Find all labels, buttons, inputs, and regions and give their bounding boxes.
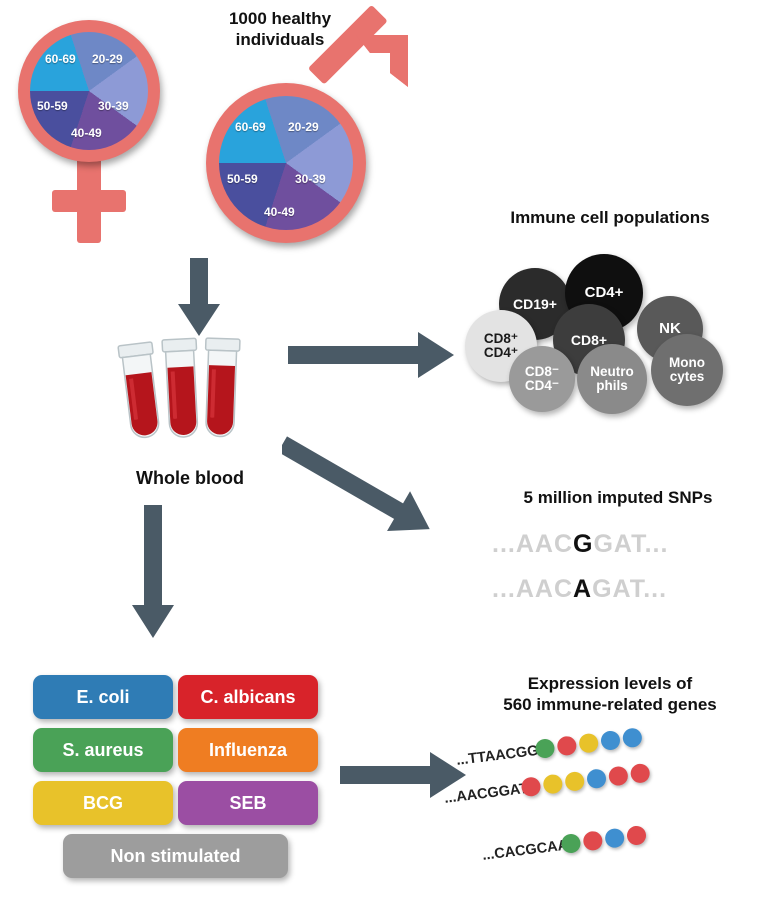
female-slice-label-20-29: 20-29 — [92, 52, 123, 66]
dna-strand-1-bead-2 — [556, 735, 577, 756]
expression-heading-line2: 560 immune-related genes — [455, 694, 765, 715]
dna-strand-2-bead-3 — [564, 771, 585, 792]
arrow-blood-to-stimuli — [130, 505, 176, 640]
female-slice-label-40-49: 40-49 — [71, 126, 102, 140]
stimulus-e-coli-label: E. coli — [76, 687, 129, 708]
male-slice-label-20-29: 20-29 — [288, 120, 319, 134]
dna-strand-3-sequence: ...CACGCAA — [481, 837, 569, 863]
female-gender-symbol: 20-29 30-39 40-49 50-59 60-69 — [8, 8, 193, 248]
immune-cell-neutrophils-label: Neutro phils — [590, 365, 634, 393]
snp-row-2-prefix: ...AAC — [492, 575, 573, 603]
male-slice-label-60-69: 60-69 — [235, 120, 266, 134]
immune-cell-cd8pos-cd4pos-label: CD8⁺ CD4⁺ — [484, 332, 518, 360]
stimulus-influenza-label: Influenza — [209, 740, 287, 761]
immune-cell-neutrophils: Neutro phils — [577, 344, 647, 414]
dna-strand-1-bead-4 — [600, 730, 621, 751]
dna-strand-3-bead-2 — [582, 830, 603, 851]
male-symbol-arrowhead — [338, 33, 410, 105]
immune-heading: Immune cell populations — [455, 207, 765, 228]
male-slice-label-30-39: 30-39 — [295, 172, 326, 186]
stimulus-seb-label: SEB — [229, 793, 266, 814]
blood-tubes — [110, 330, 270, 460]
stimulus-non-stimulated-label: Non stimulated — [110, 846, 240, 867]
snp-row-1: ...AACGGAT... — [492, 530, 668, 559]
stimulus-bcg: BCG — [33, 781, 173, 825]
whole-blood-label: Whole blood — [95, 467, 285, 490]
expression-heading: Expression levels of 560 immune-related … — [455, 673, 765, 716]
immune-cell-cd4-label: CD4+ — [585, 285, 624, 301]
snp-row-1-prefix: ...AAC — [492, 530, 573, 558]
stimulus-e-coli: E. coli — [33, 675, 173, 719]
male-gender-symbol: 20-29 30-39 40-49 50-59 60-69 — [196, 35, 411, 255]
snp-row-2: ...AACAGAT... — [492, 575, 667, 604]
female-symbol-crossbar — [52, 190, 126, 212]
immune-cell-monocytes-label: Mono cytes — [669, 356, 705, 384]
immune-cell-cd8neg-cd4neg-label: CD8⁻ CD4⁻ — [525, 365, 559, 393]
snp-row-2-suffix: GAT... — [592, 575, 667, 603]
snps-heading: 5 million imputed SNPs — [468, 487, 768, 508]
immune-cell-monocytes: Mono cytes — [651, 334, 723, 406]
dna-strand-3-bead-4 — [626, 825, 647, 846]
dna-strand-3-bead-3 — [604, 828, 625, 849]
dna-strand-2-bead-5 — [608, 765, 629, 786]
immune-cell-cd8neg-cd4neg: CD8⁻ CD4⁻ — [509, 346, 575, 412]
immune-cell-cd19-label: CD19+ — [513, 297, 557, 312]
dna-strand-1-bead-5 — [622, 727, 643, 748]
stimulus-seb: SEB — [178, 781, 318, 825]
stimulus-influenza: Influenza — [178, 728, 318, 772]
dna-strand-2-bead-6 — [630, 763, 651, 784]
stimulus-s-aureus-label: S. aureus — [62, 740, 143, 761]
stimulus-s-aureus: S. aureus — [33, 728, 173, 772]
snp-row-1-suffix: GAT... — [593, 530, 668, 558]
expression-strands: ...TTAACGG ...AACGGAT ...CACGCAA — [455, 740, 771, 910]
male-slice-label-50-59: 50-59 — [227, 172, 258, 186]
snp-row-1-highlight: G — [573, 530, 593, 558]
immune-cell-cluster: CD19+ CD4+ CD8⁺ CD4⁺ CD8+ NK CD8⁻ CD4⁻ N… — [465, 248, 765, 413]
stimulus-bcg-label: BCG — [83, 793, 123, 814]
dna-strand-2-bead-4 — [586, 768, 607, 789]
dna-strand-2-bead-2 — [542, 773, 563, 794]
stimulus-c-albicans-label: C. albicans — [200, 687, 295, 708]
female-slice-label-30-39: 30-39 — [98, 99, 129, 113]
female-slice-label-50-59: 50-59 — [37, 99, 68, 113]
arrow-individuals-to-blood — [176, 258, 222, 338]
arrow-blood-to-snps — [282, 425, 462, 535]
expression-heading-line1: Expression levels of — [455, 673, 765, 694]
stimulus-non-stimulated: Non stimulated — [63, 834, 288, 878]
male-slice-label-40-49: 40-49 — [264, 205, 295, 219]
dna-strand-1-sequence: ...TTAACGG — [455, 743, 539, 769]
stimulus-c-albicans: C. albicans — [178, 675, 318, 719]
dna-strand-1-bead-3 — [578, 733, 599, 754]
snp-row-2-highlight: A — [573, 575, 592, 603]
dna-strand-2-sequence: ...AACGGAT — [443, 781, 529, 807]
arrow-blood-to-immune — [288, 330, 458, 380]
female-slice-label-60-69: 60-69 — [45, 52, 76, 66]
